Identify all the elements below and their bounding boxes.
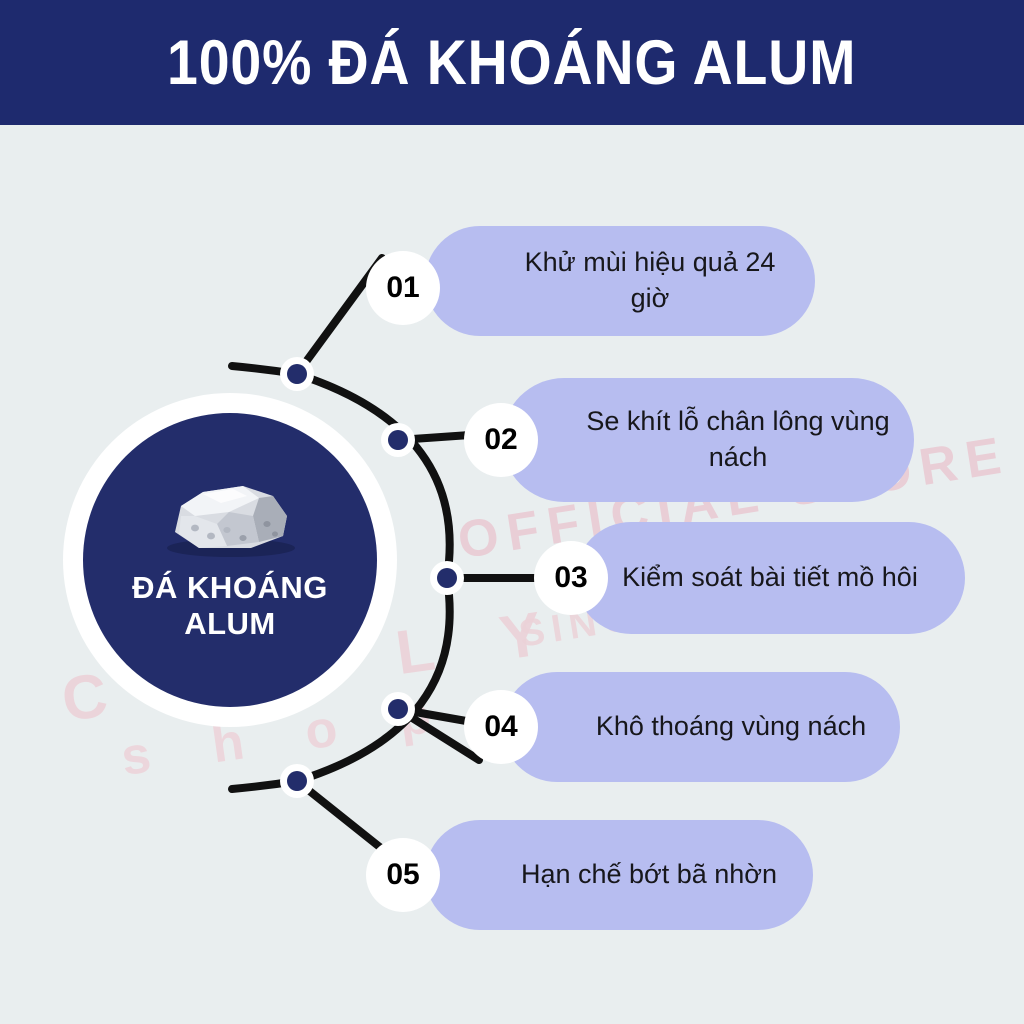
infographic-canvas: 100% ĐÁ KHOÁNG ALUM C H A L Y s h o p OF… [0,0,1024,1024]
benefit-pill-03[interactable]: Kiểm soát bài tiết mồ hôi [575,522,965,634]
center-node-label: ĐÁ KHOÁNG ALUM [132,570,328,642]
benefit-pill-02[interactable]: Se khít lỗ chân lông vùng nách [502,378,914,502]
benefit-number-05[interactable]: 05 [366,838,440,912]
node-dot-lower [381,692,415,726]
node-dot-upper [381,423,415,457]
node-dot-bottom [280,764,314,798]
mineral-rock-icon [155,472,305,558]
benefit-label-04: Khô thoáng vùng nách [502,709,900,745]
benefit-label-05: Hạn chế bớt bã nhờn [425,857,813,893]
benefit-number-04[interactable]: 04 [464,690,538,764]
benefit-number-01[interactable]: 01 [366,251,440,325]
benefit-pill-01[interactable]: Khử mùi hiệu quả 24 giờ [425,226,815,336]
benefit-label-01: Khử mùi hiệu quả 24 giờ [425,245,815,316]
benefit-label-02: Se khít lỗ chân lông vùng nách [502,404,914,475]
benefit-pill-05[interactable]: Hạn chế bớt bã nhờn [425,820,813,930]
node-dot-middle [430,561,464,595]
center-label-line-2: ALUM [132,606,328,642]
benefit-number-03[interactable]: 03 [534,541,608,615]
center-node: ĐÁ KHOÁNG ALUM [83,413,377,707]
spoke-05 [297,781,386,852]
node-dot-top [280,357,314,391]
benefit-number-02[interactable]: 02 [464,403,538,477]
benefit-pill-04[interactable]: Khô thoáng vùng nách [502,672,900,782]
center-label-line-1: ĐÁ KHOÁNG [132,570,328,606]
benefit-label-03: Kiểm soát bài tiết mồ hôi [575,560,965,596]
